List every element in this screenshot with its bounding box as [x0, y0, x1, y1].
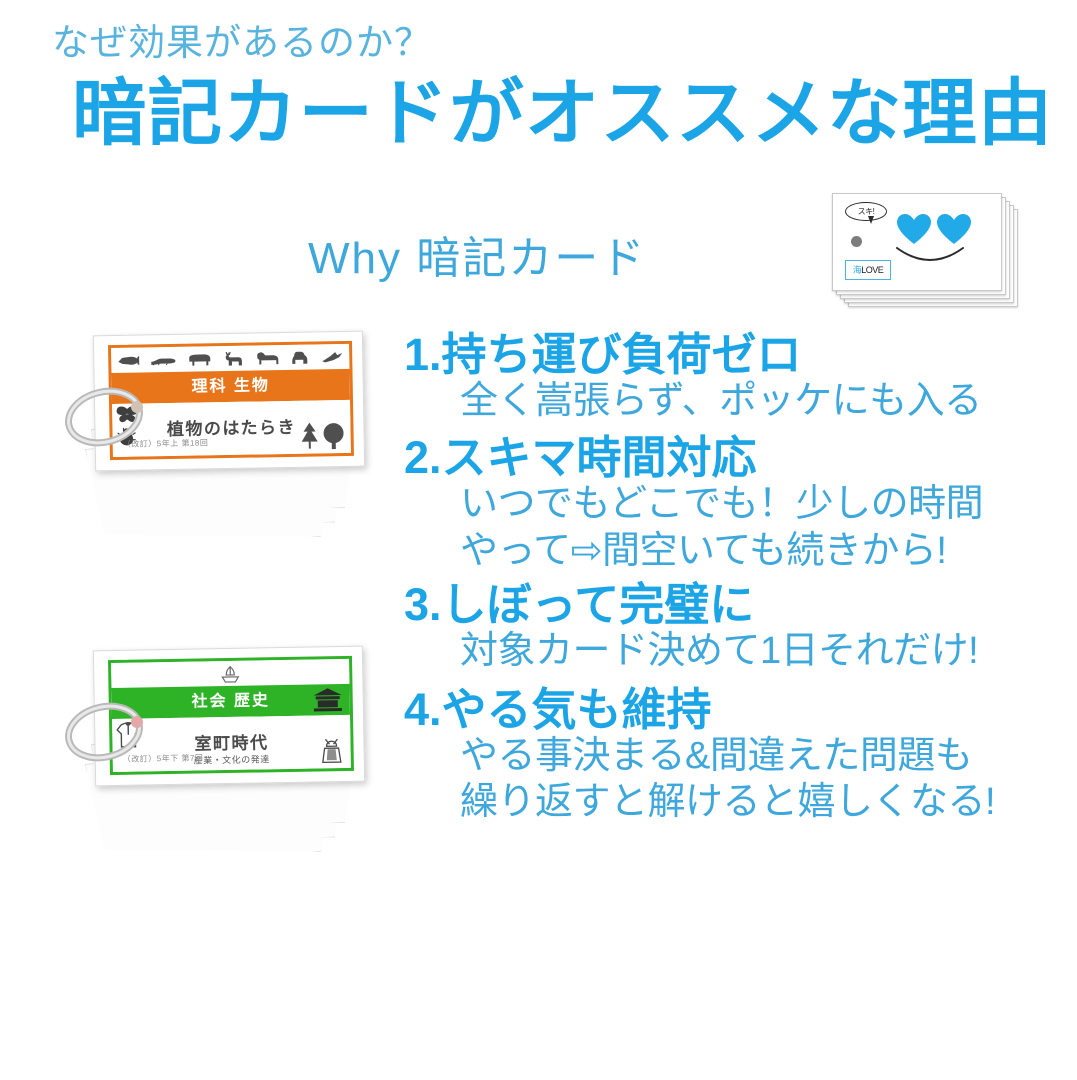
smiley-card-stack: スキ! 海LOVE: [832, 193, 1022, 308]
speech-bubble: スキ!: [845, 202, 887, 221]
heart-icon: [937, 214, 971, 245]
binder-ring-icon: [62, 696, 148, 768]
tiger-silhouette-icon: [255, 351, 279, 365]
flashcard-stack-science: 理科 生物 植物のはたらき （改訂）5年上 第18回: [62, 325, 382, 595]
hippo-silhouette-icon: [187, 352, 211, 366]
heart-icon: [897, 214, 931, 245]
flashcard-right-icons: [318, 736, 344, 764]
flashcard-right-icons: [299, 421, 344, 450]
reason-item: 3.しぼって完璧に 対象カード決めて1日それだけ!: [404, 580, 1044, 675]
reason-line: 全く嵩張らず、ポッケにも入る: [460, 378, 1044, 424]
reason-body: やる事決まる&間違えた問題も 繰り返すと解けると嬉しくなる!: [460, 733, 1044, 826]
reason-body: 全く嵩張らず、ポッケにも入る: [460, 378, 1044, 424]
bird-silhouette-icon: [321, 351, 343, 363]
punch-hole-icon: [851, 236, 862, 247]
reasons-list: 1.持ち運び負荷ゼロ 全く嵩張らず、ポッケにも入る 2.スキマ時間対応 いつでも…: [404, 330, 1044, 830]
lizard-silhouette-icon: [151, 354, 175, 364]
reason-line: やる事決まる&間違えた問題も: [460, 733, 1044, 779]
reason-heading: 4.やる気も維持: [404, 685, 1044, 735]
samurai-armor-silhouette-icon: [318, 736, 344, 764]
reason-heading: 2.スキマ時間対応: [404, 433, 1044, 483]
reason-heading: 3.しぼって完璧に: [404, 580, 1044, 630]
ship-silhouette-icon: [220, 664, 240, 682]
smiley-face: スキ! 海LOVE: [833, 194, 1003, 292]
reason-item: 1.持ち運び負荷ゼロ 全く嵩張らず、ポッケにも入る: [404, 330, 1044, 425]
why-label: Why 暗記カード: [308, 222, 646, 286]
flashcard-subject-label: 社会 歴史: [191, 692, 270, 710]
flashcard-stack-social: 社会 歴史 室町時代 産業・文化の発達 （改訂）5年下 第7回: [62, 640, 382, 910]
reason-line: いつでもどこでも！少しの時間: [460, 481, 1044, 527]
deer-silhouette-icon: [223, 351, 243, 366]
gorilla-silhouette-icon: [291, 350, 309, 364]
pine-tree-silhouette-icon: [299, 421, 319, 449]
fish-silhouette-icon: [117, 354, 139, 366]
stack-front-sheet: スキ! 海LOVE: [832, 193, 1002, 291]
reason-line: やって⇨間空いても続きから!: [460, 528, 1044, 574]
reason-item: 2.スキマ時間対応 いつでもどこでも！少しの時間 やって⇨間空いても続きから!: [404, 433, 1044, 574]
smile-arc-icon: [895, 246, 965, 270]
reason-body: 対象カード決めて1日それだけ!: [460, 628, 1044, 674]
broadleaf-tree-silhouette-icon: [322, 422, 344, 449]
infographic-page: なぜ効果があるのか？ 暗記カードがオススメな理由 Why 暗記カード スキ! 海…: [0, 0, 1077, 1080]
love-tag-suffix: LOVE: [861, 265, 883, 275]
binder-ring-icon: [62, 381, 148, 453]
love-tag: 海LOVE: [845, 260, 891, 280]
reason-item: 4.やる気も維持 やる事決まる&間違えた問題も 繰り返すと解けると嬉しくなる!: [404, 685, 1044, 826]
reason-line: 繰り返すと解けると嬉しくなる!: [460, 779, 1044, 825]
temple-silhouette-icon: [312, 687, 344, 713]
reason-heading: 1.持ち運び負荷ゼロ: [404, 330, 1044, 380]
reason-line: 対象カード決めて1日それだけ!: [460, 628, 1044, 674]
love-tag-prefix: 海: [853, 265, 862, 275]
page-title: 暗記カードがオススメな理由: [72, 54, 1053, 160]
reason-body: いつでもどこでも！少しの時間 やって⇨間空いても続きから!: [460, 481, 1044, 574]
